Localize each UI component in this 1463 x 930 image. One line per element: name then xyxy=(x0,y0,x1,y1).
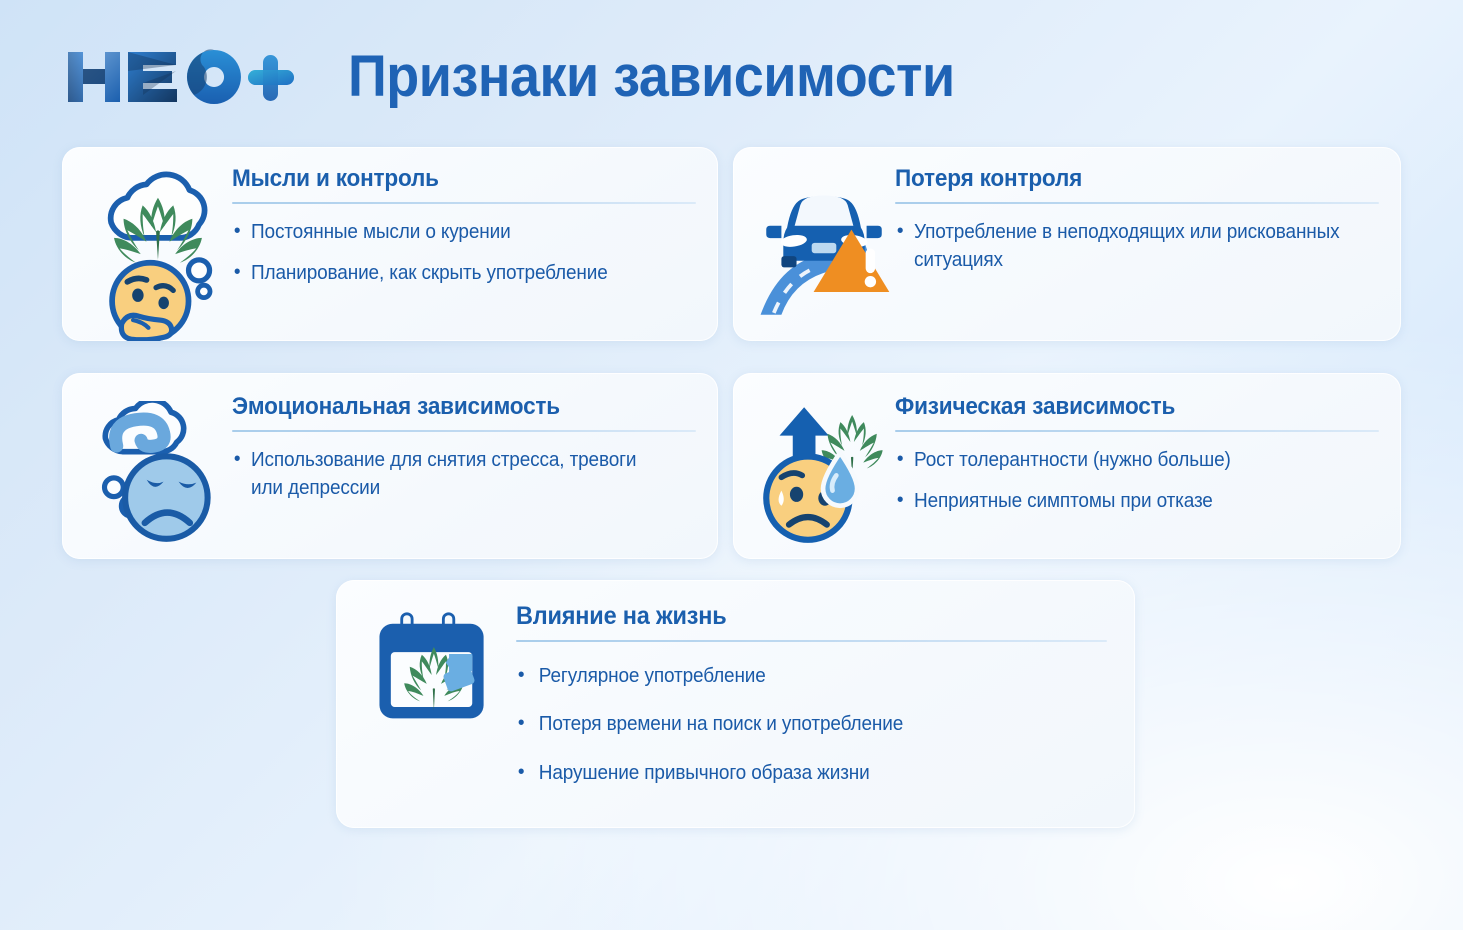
card-thoughts: Мысли и контроль Постоянные мысли о куре… xyxy=(62,147,718,341)
thinking-face-with-cannabis-thought-bubble-icon xyxy=(82,171,232,341)
list-item: Рост толерантности (нужно больше) xyxy=(895,446,1355,474)
list-item: Планирование, как скрыть употребление xyxy=(232,259,673,287)
calendar-with-cannabis-leaf-icon xyxy=(366,610,516,734)
heading-divider xyxy=(232,430,696,432)
heading-divider xyxy=(895,430,1379,432)
sad-face-with-thought-cloud-icon xyxy=(82,401,232,551)
car-on-road-with-warning-triangle-icon xyxy=(753,171,895,326)
list-item: Неприятные симптомы при отказе xyxy=(895,487,1355,515)
card-heading: Физическая зависимость xyxy=(895,393,1350,421)
card-heading: Потеря контроля xyxy=(895,165,1350,193)
card-heading: Влияние на жизнь xyxy=(516,602,1072,631)
card-heading: Мысли и контроль xyxy=(232,165,668,193)
bullet-list: Употребление в неподходящих или рискован… xyxy=(895,218,1379,275)
list-item: Использование для снятия стресса, тревог… xyxy=(232,446,673,503)
heading-divider xyxy=(895,202,1379,204)
bullet-list: Постоянные мысли о курении Планирование,… xyxy=(232,218,696,288)
heading-divider xyxy=(232,202,696,204)
card-heading: Эмоциональная зависимость xyxy=(232,393,668,421)
heading-divider xyxy=(516,640,1107,642)
card-impact-on-life: Влияние на жизнь Регулярное употребление… xyxy=(336,580,1135,828)
list-item: Употребление в неподходящих или рискован… xyxy=(895,218,1355,275)
list-item: Нарушение привычного образа жизни xyxy=(516,759,1077,787)
list-item: Постоянные мысли о курении xyxy=(232,218,673,246)
anxious-sweating-face-with-up-arrow-and-leaf-icon xyxy=(753,395,895,553)
page-header: Признаки зависимости xyxy=(0,34,1463,120)
list-item: Регулярное употребление xyxy=(516,662,1077,690)
neo-plus-logo xyxy=(62,40,294,114)
list-item: Потеря времени на поиск и употребление xyxy=(516,710,1077,738)
card-emotional-dependence: Эмоциональная зависимость Использование … xyxy=(62,373,718,559)
card-physical-dependence: Физическая зависимость Рост толерантност… xyxy=(733,373,1401,559)
bullet-list: Использование для снятия стресса, тревог… xyxy=(232,446,696,503)
bullet-list: Регулярное употребление Потеря времени н… xyxy=(516,662,1107,787)
card-loss-of-control: Потеря контроля Употребление в неподходя… xyxy=(733,147,1401,341)
bullet-list: Рост толерантности (нужно больше) Неприя… xyxy=(895,446,1379,516)
page-title: Признаки зависимости xyxy=(348,34,955,120)
